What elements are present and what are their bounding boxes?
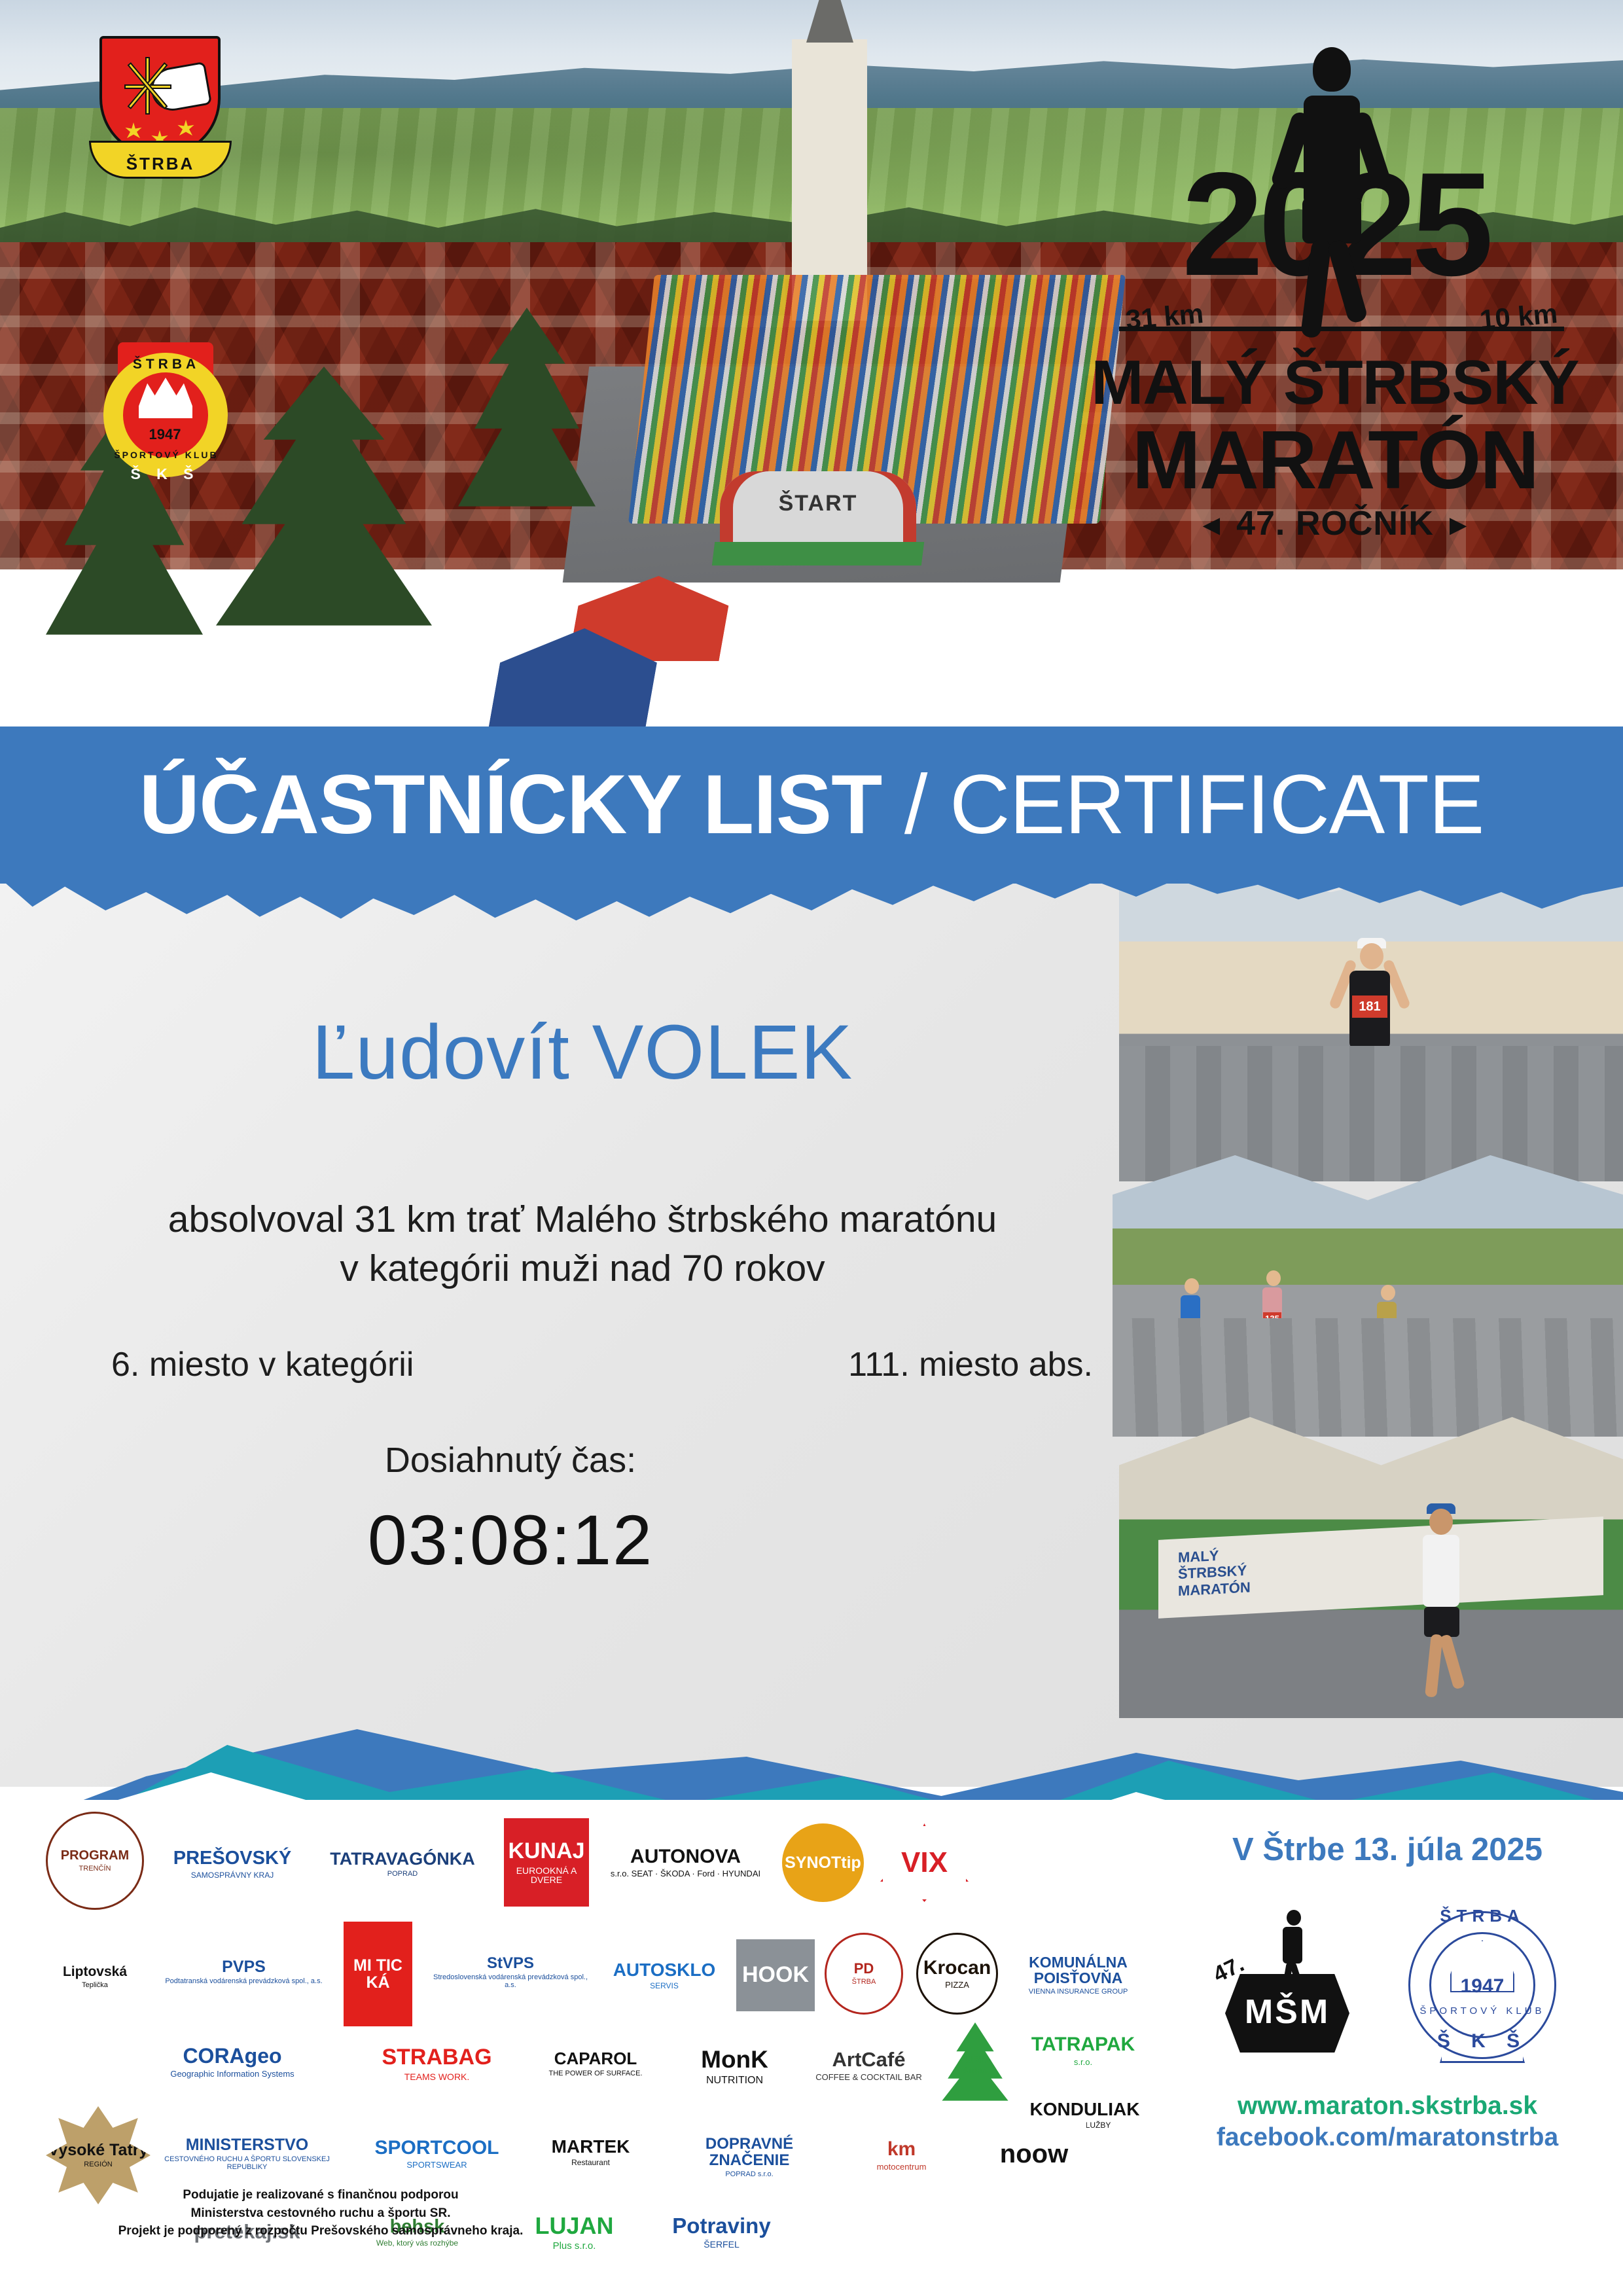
sponsor-logo-hook: HOOK (736, 1939, 815, 2011)
msm-diamond-badge: MŠM (1225, 1974, 1349, 2053)
sponsor-name: MI TIC KÁ (344, 1957, 412, 1992)
sponsor-name: CORAgeo (183, 2045, 281, 2068)
page-title: ÚČASTNÍCKY LIST / CERTIFICATE (0, 763, 1623, 847)
sponsor-name: Liptovská (63, 1965, 127, 1979)
sponsor-tagline: Teplička (78, 1982, 112, 1990)
sponsor-tagline: SERVIS (646, 1982, 683, 1990)
sponsor-logo-stvps: StVPSStredoslovenská vodárenská prevádzk… (429, 1929, 592, 2015)
sponsor-logo-pvps: PVPSPodtatranská vodárenská prevádzková … (157, 1929, 330, 2015)
bib-number: 181 (1352, 996, 1387, 1018)
club-mark-club: ŠPORTOVÝ KLUB (1415, 2005, 1550, 2017)
date-and-place: V Štrbe 13. júla 2025 (1165, 1831, 1610, 1868)
sponsor-logo-autosklo-servis: AUTOSKLOSERVIS (605, 1939, 723, 2011)
sponsor-name: ArtCafé (832, 2049, 906, 2071)
statement-line-1: absolvoval 31 km trať Malého štrbského m… (79, 1198, 1086, 1241)
arrow-left-icon: ◄ (1197, 509, 1226, 542)
title-separator: / (882, 758, 950, 852)
star-icon (124, 122, 143, 141)
sponsor-logo-krocan-pizza: KrocanPIZZA (916, 1933, 998, 2015)
sponsor-logo-noow: noow (982, 2119, 1086, 2188)
sponsor-name: Krocan (923, 1958, 991, 1979)
sponsor-name: Potraviny (672, 2215, 770, 2238)
sponsor-name: Vysoké Tatry (48, 2142, 149, 2159)
club-emblem-bottom-text: Š K Š (99, 465, 230, 483)
sponsor-name: TATRAPAK (1031, 2034, 1135, 2055)
runner-c: 173 (1368, 1280, 1404, 1384)
sponsor-name: AUTONOVA (630, 1846, 741, 1867)
sponsor-logo-ps-urbar-strba: PS URBÁRŠTRBA (939, 2022, 1011, 2108)
footer-right-column: V Štrbe 13. júla 2025 47. MŠM ŠTRBA 1947… (1165, 1813, 1610, 2152)
sponsor-logo-martek-restaurant: MARTEKRestaurant (533, 2109, 648, 2195)
sponsor-name: STRABAG (382, 2046, 491, 2070)
disclaimer-line-3: Projekt je podporený z rozpočtu Prešovsk… (52, 2222, 589, 2240)
photo-finish-celebration: 181 (1119, 874, 1623, 1181)
sponsor-tagline: POPRAD (383, 1871, 421, 1878)
organizer-marks: 47. MŠM ŠTRBA 1947 ŠPORTOVÝ KLUB Š K Š (1165, 1902, 1610, 2066)
club-mark-bottom: Š K Š (1400, 2030, 1564, 2053)
sponsor-tagline: VIENNA INSURANCE GROUP (1025, 1988, 1132, 1996)
sponsor-name: noow (1000, 2140, 1068, 2168)
place-absolute: 111. miesto abs. (848, 1345, 1093, 1384)
sponsor-tagline: EUROOKNÁ A DVERE (504, 1866, 589, 1885)
sponsor-tagline: Web, ktorý vás rozhýbe (372, 2239, 462, 2248)
sponsor-tagline: ŠERFEL (700, 2240, 743, 2250)
sponsor-name: StVPS (487, 1955, 534, 1971)
sponsor-logo-dopravne-znacenie: DOPRAVNÉ ZNAČENIEPOPRAD s.r.o. (668, 2126, 831, 2188)
sponsor-name: KONDULIAK (1030, 2100, 1140, 2119)
sponsor-tagline: TEAMS WORK. (401, 2072, 474, 2082)
sponsor-tagline: COFFEE & COCKTAIL BAR (811, 2073, 926, 2082)
marathon-event-logo: 2025 31 km 10 km MALÝ ŠTRBSKÝ MARATÓN ◄ … (1073, 26, 1597, 589)
club-mark-year: 1947 (1400, 1975, 1564, 1998)
title-english: CERTIFICATE (950, 758, 1484, 852)
sponsor-logo-autonova: AUTONOVAs.r.o. SEAT · ŠKODA · Ford · HYU… (602, 1818, 769, 1907)
sponsor-logo-corageo: CORAgeoGeographic Information Systems (151, 2024, 314, 2100)
start-carpet (712, 542, 924, 565)
sponsor-name: MINISTERSTVO (186, 2136, 309, 2153)
sponsor-tagline: ŠTRBA (959, 2068, 991, 2076)
msm-abbreviation: MŠM (1225, 1992, 1349, 2032)
sponsor-tagline: THE POWER OF SURFACE. (544, 2070, 646, 2078)
placement-row: 6. miesto v kategórii 111. miesto abs. (79, 1345, 1099, 1384)
sponsor-name: KUNAJ (508, 1840, 584, 1863)
sponsor-tagline: motocentrum (873, 2162, 931, 2172)
sponsor-logo-komunalna-poistovna: KOMUNÁLNA POISŤOVŇAVIENNA INSURANCE GROU… (1008, 1936, 1149, 2015)
sponsor-name: PD (854, 1961, 874, 1976)
sponsor-name: MARTEK (552, 2137, 630, 2156)
distance-right: 10 km (1478, 298, 1559, 336)
sponsor-name: KOMUNÁLNA POISŤOVŇA (1008, 1954, 1149, 1986)
finish-banner: MALÝ ŠTRBSKÝ MARATÓN (1158, 1516, 1603, 1619)
bib-number: 135 (1263, 1312, 1281, 1325)
sponsor-name: SYNOTtip (785, 1854, 861, 1871)
sponsor-logo-ministerstvo-sr: MINISTERSTVOCESTOVNÉHO RUCHU A ŠPORTU SL… (160, 2109, 334, 2198)
facebook-url[interactable]: facebook.com/maratonstrba (1165, 2123, 1610, 2152)
sponsor-logo-caparol: CAPAROLTHE POWER OF SURFACE. (533, 2024, 658, 2103)
sponsor-logo-presovsky-kraj: PREŠOVSKÝSAMOSPRÁVNY KRAJ (157, 1828, 308, 1900)
sponsor-tagline: SPORTSWEAR (402, 2161, 471, 2170)
sponsor-tagline: PIZZA (941, 1981, 973, 1990)
participant-name: Ľudovít VOLEK (98, 1008, 1067, 1097)
place-in-category: 6. miesto v kategórii (111, 1345, 414, 1384)
photo-hill-runners: 122 135 173 (1113, 1155, 1623, 1437)
sponsor-name: PREŠOVSKÝ (173, 1848, 292, 1868)
sponsor-name: PS URBÁR (946, 2054, 1005, 2066)
event-name-line2: MARATÓN (1073, 412, 1597, 507)
sponsor-logo-grid: PROGRAMTRENČÍNPREŠOVSKÝSAMOSPRÁVNY KRAJT… (46, 1812, 1152, 2178)
strba-municipality-emblem: ŠTRBA (99, 36, 221, 187)
sponsor-tagline: Geographic Information Systems (166, 2070, 298, 2079)
event-edition-row: ◄ 47. ROČNÍK ► (1073, 504, 1597, 543)
finish-time-value: 03:08:12 (79, 1499, 942, 1581)
sponsor-logo-tatrapak: TATRAPAKs.r.o. (1021, 2021, 1145, 2080)
coat-of-arms-shield (99, 36, 221, 157)
sponsor-name: AUTOSKLO (613, 1960, 716, 1979)
arrow-right-icon: ► (1444, 509, 1473, 542)
sponsor-name: SPORTCOOL (374, 2138, 499, 2159)
sponsor-tagline: NUTRITION (702, 2075, 767, 2087)
sponsor-tagline: TRENČÍN (75, 1865, 115, 1873)
sponsor-tagline: Restaurant (567, 2159, 614, 2167)
star-icon (177, 120, 195, 138)
club-mark-top: ŠTRBA (1420, 1906, 1544, 1926)
sponsor-tagline: POPRAD s.r.o. (721, 2171, 777, 2179)
event-name-line1: MALÝ ŠTRBSKÝ (1073, 347, 1597, 419)
sponsor-name: VIX (901, 1848, 948, 1878)
sponsor-tagline: s.r.o. SEAT · ŠKODA · Ford · HYUNDAI (607, 1869, 764, 1878)
sponsor-logo-liptovska-teplicka: LiptovskáTeplička (46, 1920, 144, 2034)
sponsor-name: TATRAVAGÓNKA (330, 1850, 474, 1868)
photo-collage: 181 122 135 173 MALÝ ŠTRBSKÝ MARATÓN (1113, 874, 1623, 1718)
bib-number: 122 (1181, 1320, 1200, 1333)
sponsors-section: PROGRAMTRENČÍNPREŠOVSKÝSAMOSPRÁVNY KRAJT… (0, 1800, 1623, 2296)
sponsor-logo-program-trencin: PROGRAMTRENČÍN (46, 1812, 144, 1910)
sponsor-name: PROGRAM (61, 1849, 129, 1863)
sponsor-name: CAPAROL (554, 2050, 637, 2068)
crossed-keys-icon (123, 58, 171, 115)
sponsor-logo-tatravagonka-poprad: TATRAVAGÓNKAPOPRAD (321, 1828, 484, 1900)
title-slovak: ÚČASTNÍCKY LIST (139, 758, 882, 852)
certificate-title-band: ÚČASTNÍCKY LIST / CERTIFICATE (0, 726, 1623, 884)
sponsor-tagline: Plus s.r.o. (549, 2241, 600, 2251)
start-arch: ŠTART (720, 471, 916, 543)
sponsor-tagline: s.r.o. (1070, 2058, 1096, 2067)
sponsor-logo-synottip: SYNOTtip (782, 1823, 864, 1902)
sponsor-name: DOPRAVNÉ ZNAČENIE (668, 2136, 831, 2168)
emblem-ribbon-label: ŠTRBA (89, 141, 232, 179)
sponsor-tagline: ŠTRBA (848, 1979, 880, 1986)
funding-disclaimer: Podujatie je realizované s finančnou pod… (52, 2186, 589, 2240)
sponsor-name: km (887, 2139, 916, 2160)
sponsor-logo-sportcool: SPORTCOOLSPORTSWEAR (366, 2119, 507, 2188)
sponsor-tagline: Stredoslovenská vodárenská prevádzková s… (429, 1974, 592, 1989)
distance-left: 31 km (1124, 298, 1205, 336)
sponsor-logo-vix: VIX (880, 1823, 969, 1902)
sponsor-logo-strabag: STRABAGTEAMS WORK. (366, 2028, 507, 2100)
sks-club-emblem: ŠTRBA 1947 ŠPORTOVÝ KLUB Š K Š (99, 337, 230, 478)
sponsor-tagline: Podtatranská vodárenská prevádzková spol… (161, 1978, 326, 1986)
sponsor-logo-miticka: MI TIC KÁ (344, 1922, 412, 2026)
disclaimer-line-1: Podujatie je realizované s finančnou pod… (52, 2186, 589, 2204)
start-arch-label: ŠTART (720, 491, 916, 516)
sponsor-name: PVPS (222, 1958, 266, 1975)
sponsor-logo-monk-nutrition: MonKNUTRITION (674, 2031, 795, 2103)
sponsor-logo-pd-strba: PDŠTRBA (825, 1933, 903, 2015)
statement-line-2: v kategórii muži nad 70 rokov (79, 1247, 1086, 1290)
sponsor-name: MonK (701, 2047, 768, 2073)
event-edition: 47. ROČNÍK (1236, 505, 1434, 543)
sponsor-logo-kunaj: KUNAJEUROOKNÁ A DVERE (504, 1818, 589, 1907)
website-url[interactable]: www.maraton.skstrba.sk (1165, 2092, 1610, 2121)
club-emblem-club-text: ŠPORTOVÝ KLUB (109, 450, 224, 460)
club-emblem-top-text: ŠTRBA (113, 357, 220, 372)
msm-logo: 47. MŠM (1211, 1902, 1361, 2066)
sponsor-name: HOOK (742, 1964, 809, 1987)
sponsor-logo-artcafe: ArtCaféCOFFEE & COCKTAIL BAR (811, 2026, 926, 2105)
distance-labels: 31 km 10 km (1126, 301, 1558, 332)
bib-number: 173 (1378, 1327, 1396, 1340)
runner-b: 135 (1253, 1265, 1290, 1370)
club-emblem-year: 1947 (99, 426, 230, 443)
sponsor-logo-potraviny-serfel: PotravinyŠERFEL (661, 2201, 782, 2263)
sponsor-tagline: CESTOVNÉHO RUCHU A ŠPORTU SLOVENSKEJ REP… (160, 2156, 334, 2171)
disclaimer-line-2: Ministerstva cestovného ruchu a športu S… (52, 2204, 589, 2223)
celebrating-runner: 181 (1335, 933, 1407, 1149)
runner-a: 122 (1171, 1273, 1208, 1378)
time-label: Dosiahnutý čas: (79, 1440, 942, 1480)
sponsor-tagline: SAMOSPRÁVNY KRAJ (187, 1871, 277, 1880)
sks-club-mark: ŠTRBA 1947 ŠPORTOVÝ KLUB Š K Š (1400, 1902, 1564, 2066)
sponsor-logo-km-motocentrum: kmmotocentrum (844, 2119, 959, 2191)
sponsor-tagline: REGIÓN (80, 2161, 116, 2169)
